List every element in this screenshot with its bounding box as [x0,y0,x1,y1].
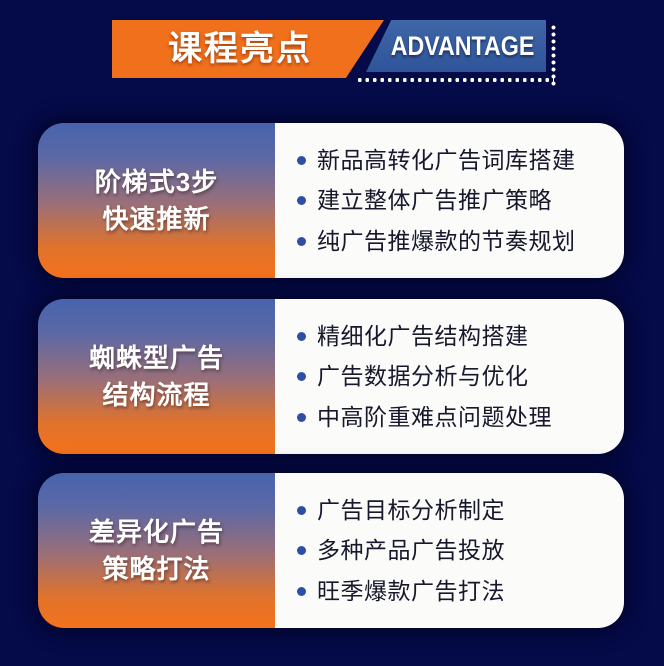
bullet-label: 中高阶重难点问题处理 [317,400,552,435]
bullet-label: 多种产品广告投放 [317,533,505,568]
bullet-dot-icon [297,332,306,341]
highlight-card: 阶梯式3步 快速推新 新品高转化广告词库搭建 建立整体广告推广策略 纯广告推爆款… [38,123,624,278]
card-title-line-1: 蜘蛛型广告 [89,340,224,377]
card-bullet-panel: 精细化广告结构搭建 广告数据分析与优化 中高阶重难点问题处理 [275,299,624,454]
bullet-item: 广告数据分析与优化 [297,359,624,394]
bullet-label: 精细化广告结构搭建 [317,319,529,354]
card-title-panel: 差异化广告 策略打法 [38,473,275,628]
bullet-label: 新品高转化广告词库搭建 [317,143,576,178]
bullet-dot-icon [297,237,306,246]
bullet-label: 旺季爆款广告打法 [317,574,505,609]
bullet-dot-icon [297,587,306,596]
bullet-item: 中高阶重难点问题处理 [297,400,624,435]
bullet-dot-icon [297,506,306,515]
bullet-label: 广告目标分析制定 [317,493,505,528]
header-english-title: ADVANTAGE [378,33,534,60]
dotted-border-bottom-decoration [356,76,554,84]
card-title-line-1: 阶梯式3步 [95,164,218,201]
highlight-card: 蜘蛛型广告 结构流程 精细化广告结构搭建 广告数据分析与优化 中高阶重难点问题处… [38,299,624,454]
card-bullet-panel: 广告目标分析制定 多种产品广告投放 旺季爆款广告打法 [275,473,624,628]
bullet-label: 建立整体广告推广策略 [317,183,552,218]
card-title-line-1: 差异化广告 [89,514,224,551]
header-chinese-title-banner: 课程亮点 [112,20,384,78]
card-title-line-2: 结构流程 [102,377,210,414]
bullet-label: 广告数据分析与优化 [317,359,529,394]
header-chinese-title: 课程亮点 [168,32,328,66]
bullet-dot-icon [297,372,306,381]
bullet-dot-icon [297,546,306,555]
bullet-dot-icon [297,413,306,422]
bullet-dot-icon [297,196,306,205]
bullet-item: 多种产品广告投放 [297,533,624,568]
card-title-panel: 阶梯式3步 快速推新 [38,123,275,278]
bullet-label: 纯广告推爆款的节奏规划 [317,224,576,259]
bullet-item: 新品高转化广告词库搭建 [297,143,624,178]
bullet-dot-icon [297,156,306,165]
card-title-line-2: 快速推新 [102,201,210,238]
bullet-item: 建立整体广告推广策略 [297,183,624,218]
card-bullet-panel: 新品高转化广告词库搭建 建立整体广告推广策略 纯广告推爆款的节奏规划 [275,123,624,278]
card-title-line-2: 策略打法 [102,551,210,588]
card-title-panel: 蜘蛛型广告 结构流程 [38,299,275,454]
header-banner: 课程亮点 ADVANTAGE [0,0,664,105]
bullet-item: 旺季爆款广告打法 [297,574,624,609]
header-english-title-block: ADVANTAGE [366,20,546,72]
bullet-item: 精细化广告结构搭建 [297,319,624,354]
highlight-card: 差异化广告 策略打法 广告目标分析制定 多种产品广告投放 旺季爆款广告打法 [38,473,624,628]
header-english-title-banner: ADVANTAGE [366,20,560,78]
bullet-item: 纯广告推爆款的节奏规划 [297,224,624,259]
bullet-item: 广告目标分析制定 [297,493,624,528]
